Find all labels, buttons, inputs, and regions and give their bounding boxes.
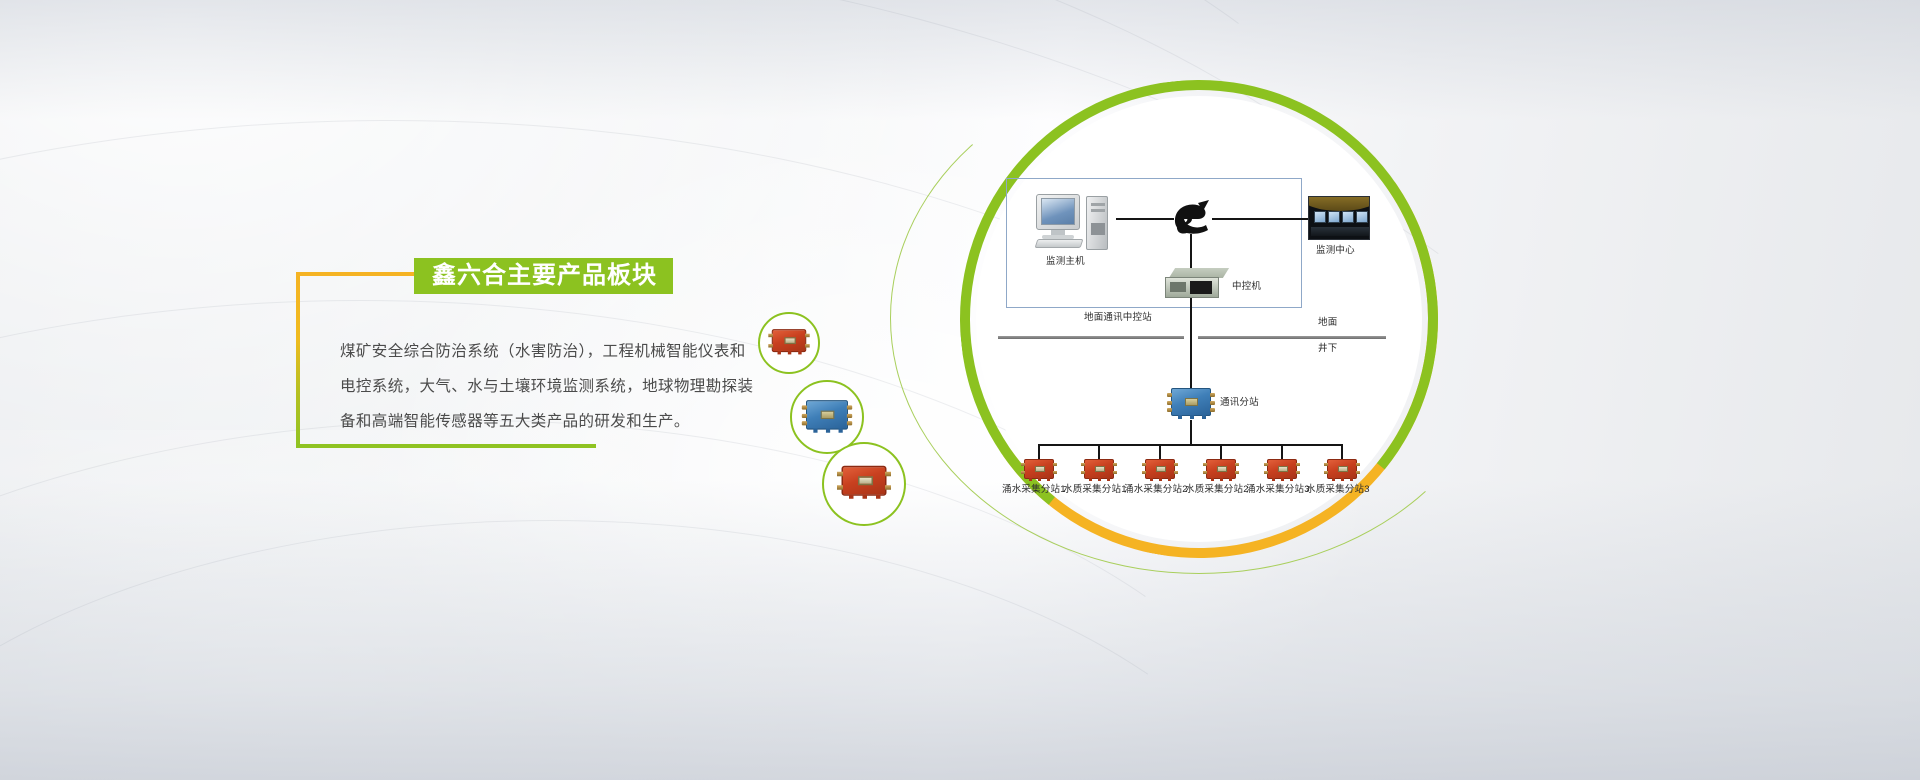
label-surface: 地面 bbox=[1318, 318, 1337, 328]
system-architecture-diagram: 监测主机 e bbox=[880, 60, 1920, 660]
label-communication-substation: 通讯分站 bbox=[1220, 398, 1259, 408]
desktop-computer-icon bbox=[1036, 194, 1110, 250]
product-banner: 鑫六合主要产品板块 煤矿安全综合防治系统（水害防治），工程机械智能仪表和 电控系… bbox=[0, 0, 1920, 780]
description-line-3: 备和高端智能传感器等五大类产品的研发和生产。 bbox=[340, 404, 760, 439]
station-6 bbox=[1327, 459, 1357, 484]
internet-cloud-swoosh bbox=[1172, 200, 1210, 236]
label-station-3: 涌水采集分站2 bbox=[1124, 485, 1188, 495]
wire-controller-to-substation bbox=[1190, 296, 1192, 392]
red-junction-box-icon bbox=[1024, 459, 1054, 479]
station-4 bbox=[1206, 459, 1236, 484]
red-junction-box-icon bbox=[1267, 459, 1297, 479]
wire-host-to-internet bbox=[1116, 218, 1174, 220]
label-station-2: 水质采集分站1 bbox=[1063, 485, 1127, 495]
label-underground: 井下 bbox=[1318, 344, 1337, 354]
page-title: 鑫六合主要产品板块 bbox=[432, 264, 657, 288]
blue-junction-box-icon bbox=[1171, 388, 1211, 421]
wire-drop-3 bbox=[1159, 444, 1161, 460]
label-central-controller: 中控机 bbox=[1232, 282, 1261, 292]
section-title-band: 鑫六合主要产品板块 bbox=[414, 258, 673, 294]
wire-station-bus bbox=[1038, 444, 1342, 446]
wire-internet-to-center bbox=[1212, 218, 1308, 220]
label-station-4: 水质采集分站2 bbox=[1185, 485, 1249, 495]
ground-line-right bbox=[1198, 336, 1386, 339]
wire-drop-2 bbox=[1098, 444, 1100, 460]
ground-line-left bbox=[998, 336, 1184, 339]
callout-bubble-red-station[interactable] bbox=[758, 312, 820, 374]
red-junction-box-icon bbox=[1327, 459, 1357, 479]
description-line-2: 电控系统，大气、水与土壤环境监测系统，地球物理勘探装 bbox=[340, 369, 760, 404]
description-line-1: 煤矿安全综合防治系统（水害防治），工程机械智能仪表和 bbox=[340, 334, 760, 369]
red-junction-box-icon bbox=[842, 465, 887, 503]
panel-border-bottom bbox=[296, 444, 596, 448]
red-junction-box-icon bbox=[1145, 459, 1175, 479]
station-5 bbox=[1267, 459, 1297, 484]
rack-server-icon bbox=[1172, 268, 1228, 300]
callout-bubble-red-station-large[interactable] bbox=[822, 442, 906, 526]
schematic-canvas: 监测主机 e bbox=[976, 96, 1422, 542]
background-glow-bottom-left bbox=[0, 430, 940, 780]
label-surface-control-station: 地面通讯中控站 bbox=[1084, 313, 1152, 323]
label-station-1: 涌水采集分站1 bbox=[1002, 485, 1066, 495]
wire-internet-to-controller bbox=[1190, 234, 1192, 272]
red-junction-box-icon bbox=[772, 329, 807, 358]
wire-hub-trunk bbox=[1190, 420, 1192, 444]
label-monitoring-host: 监测主机 bbox=[1046, 257, 1085, 267]
wire-drop-5 bbox=[1281, 444, 1283, 460]
label-station-5: 涌水采集分站3 bbox=[1246, 485, 1310, 495]
label-station-6: 水质采集分站3 bbox=[1306, 485, 1370, 495]
station-3 bbox=[1145, 459, 1175, 484]
control-room-screen-wall-icon bbox=[1308, 196, 1370, 240]
wire-drop-4 bbox=[1220, 444, 1222, 460]
label-monitoring-center: 监测中心 bbox=[1316, 246, 1355, 256]
wire-drop-1 bbox=[1038, 444, 1040, 460]
station-2 bbox=[1084, 459, 1114, 484]
station-1 bbox=[1024, 459, 1054, 484]
red-junction-box-icon bbox=[1206, 459, 1236, 479]
wire-drop-6 bbox=[1341, 444, 1343, 460]
product-description: 煤矿安全综合防治系统（水害防治），工程机械智能仪表和 电控系统，大气、水与土壤环… bbox=[340, 334, 760, 439]
panel-border-left bbox=[296, 272, 300, 448]
red-junction-box-icon bbox=[1084, 459, 1114, 479]
blue-junction-box-icon bbox=[806, 400, 848, 435]
